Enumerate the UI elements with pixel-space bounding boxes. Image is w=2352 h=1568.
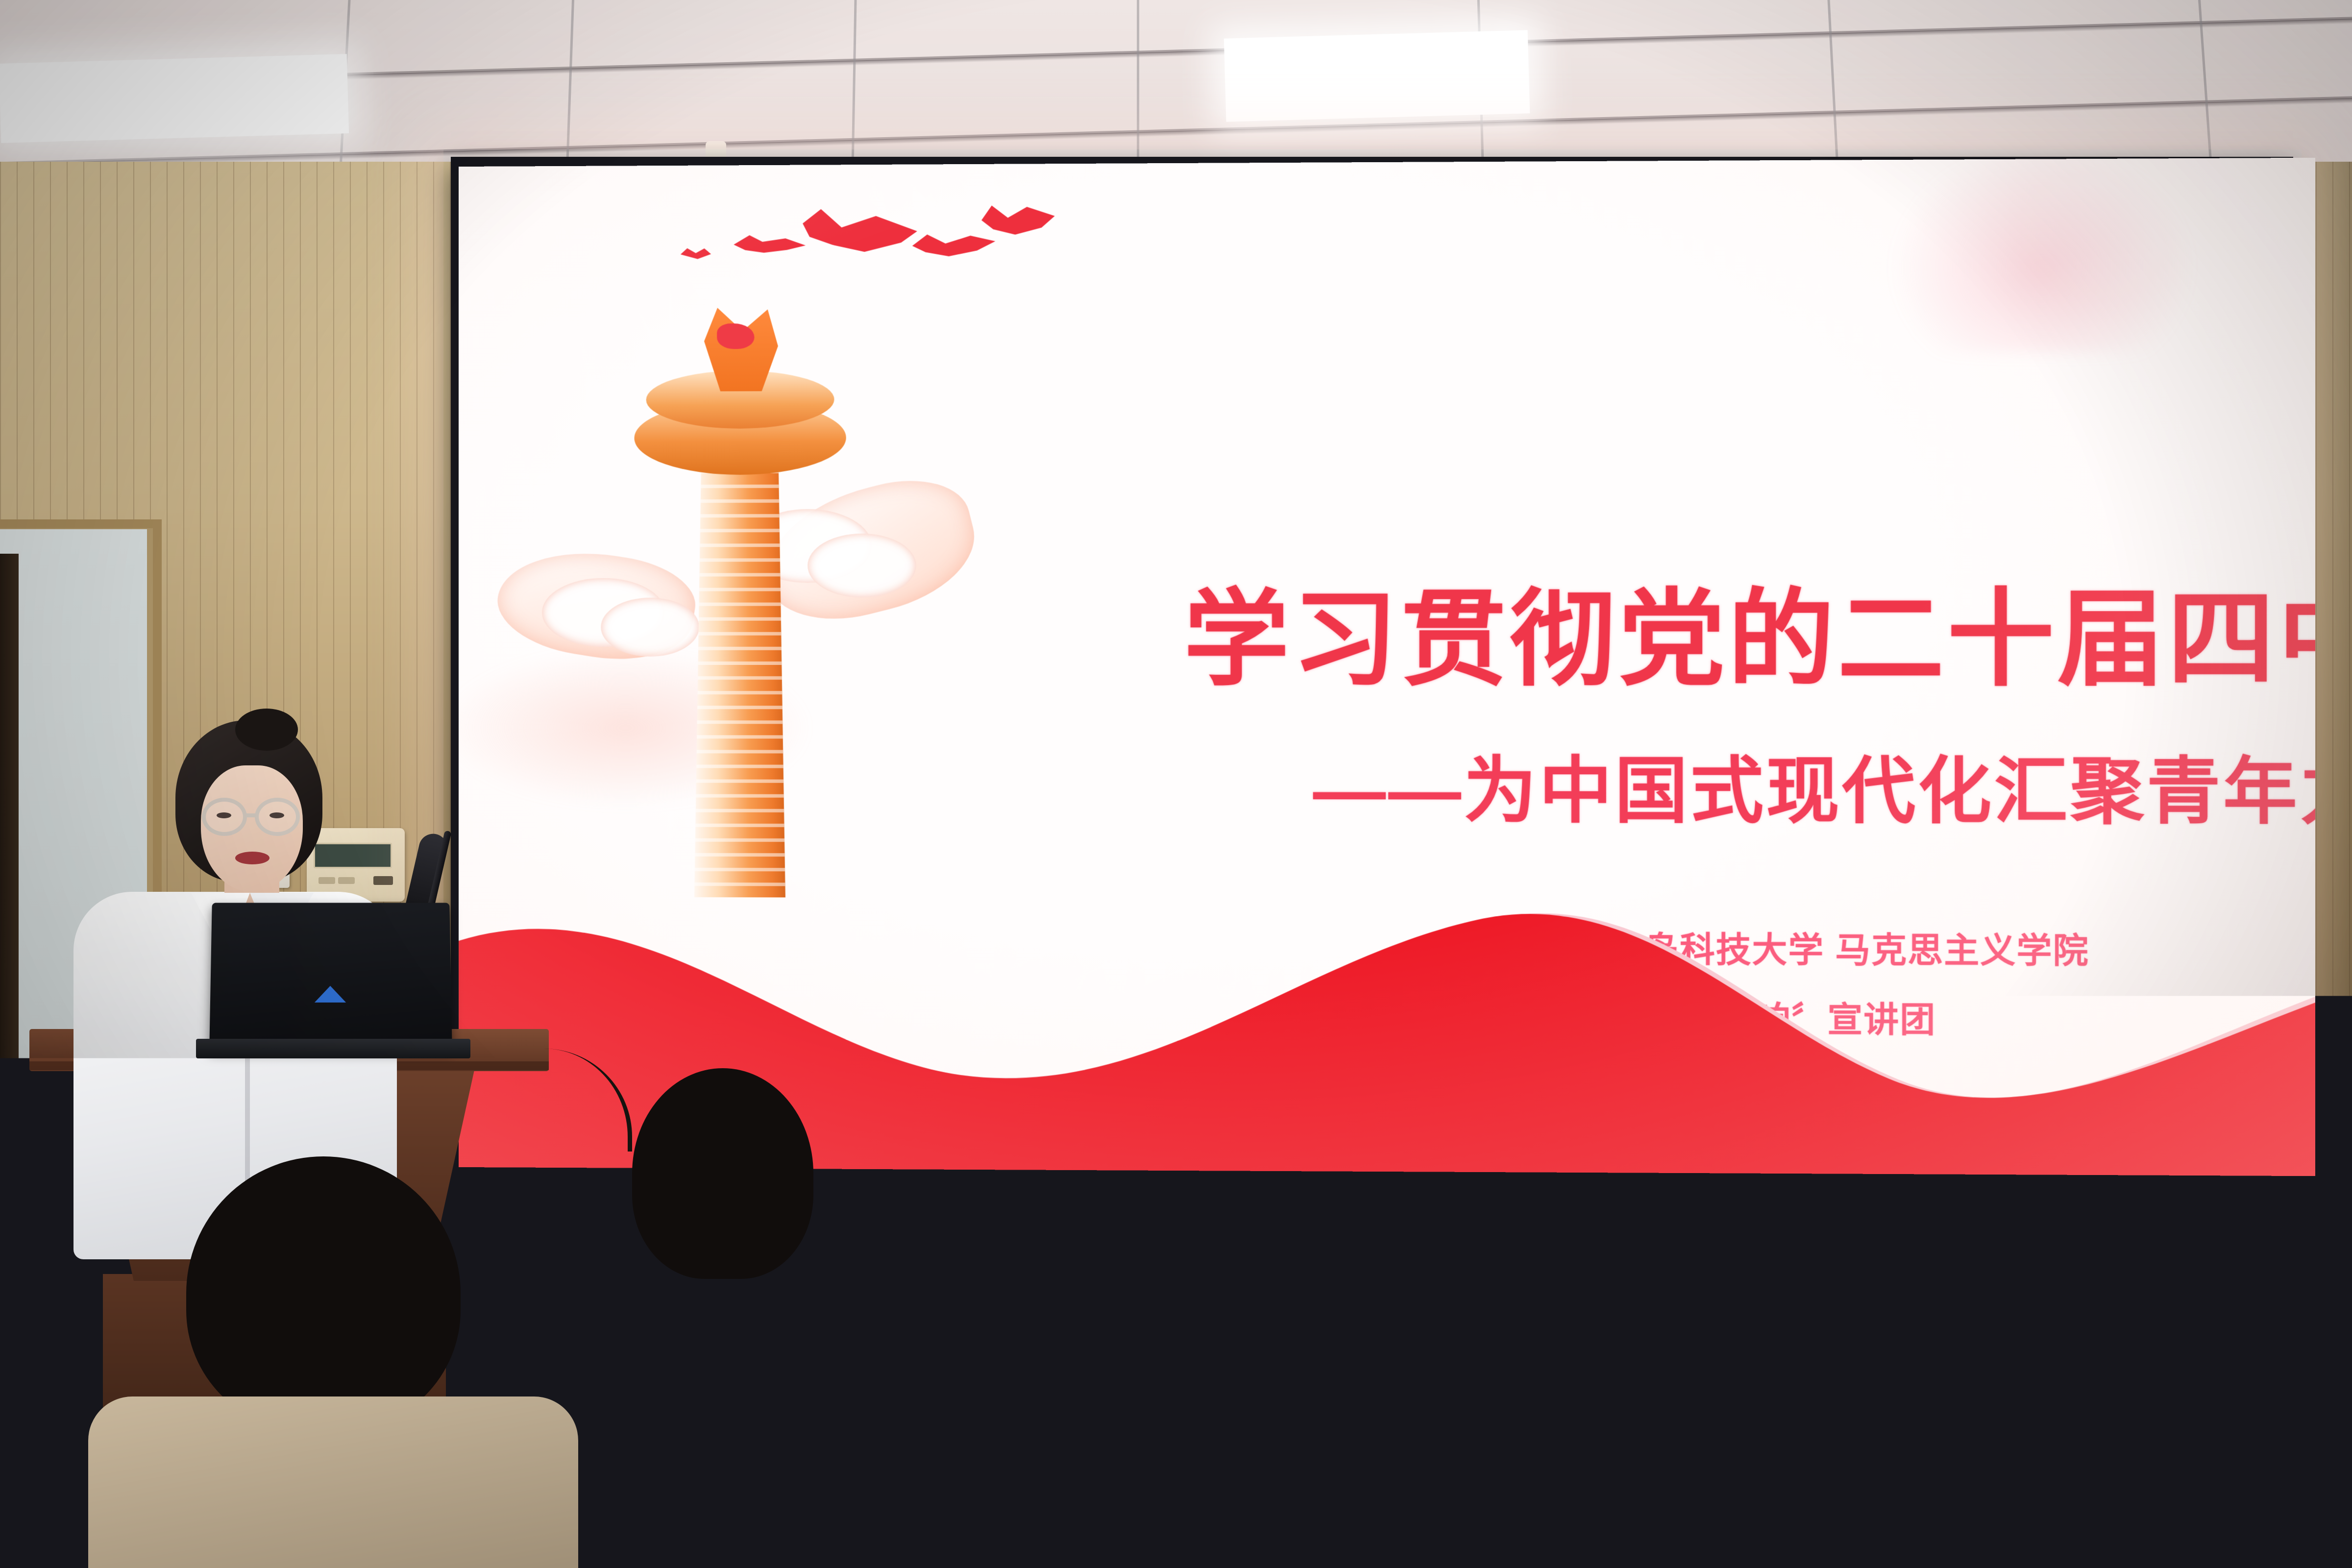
ceiling-panel-light bbox=[0, 54, 349, 143]
laptop[interactable] bbox=[209, 903, 452, 1049]
led-screen-bezel: 学习贯彻党的二十届四中全会精神 ——为中国式现代化汇聚青年力量 青岛科技大学 马… bbox=[451, 157, 2293, 1181]
presentation-slide: 学习贯彻党的二十届四中全会精神 ——为中国式现代化汇聚青年力量 青岛科技大学 马… bbox=[459, 158, 2315, 1176]
presenter-mouth bbox=[235, 852, 269, 864]
bag-buckle bbox=[1926, 1441, 1944, 1469]
ceiling-panel-light bbox=[1224, 30, 1530, 122]
bag-buckle bbox=[2082, 1441, 2101, 1469]
audience-body bbox=[88, 1396, 578, 1568]
door-jamb bbox=[0, 554, 19, 1254]
laptop-base bbox=[196, 1039, 470, 1058]
palm bbox=[2198, 1298, 2291, 1431]
raised-hand bbox=[2185, 1225, 2308, 1431]
led-screen[interactable]: 学习贯彻党的二十届四中全会精神 ——为中国式现代化汇聚青年力量 青岛科技大学 马… bbox=[459, 158, 2315, 1176]
audience-body bbox=[519, 1225, 921, 1568]
slide-vignette bbox=[459, 158, 2315, 1176]
bag-flap bbox=[1906, 1325, 2117, 1369]
laptop-logo-icon bbox=[315, 986, 346, 1003]
glasses-icon bbox=[620, 1127, 674, 1149]
audience-head bbox=[186, 1156, 461, 1431]
handbag bbox=[1886, 1333, 2141, 1529]
glasses-icon bbox=[202, 798, 247, 836]
network-outlet[interactable] bbox=[1378, 1376, 1419, 1421]
glasses-bridge bbox=[246, 813, 258, 817]
plug bbox=[1286, 1398, 1308, 1420]
glasses-icon bbox=[255, 798, 300, 836]
bracelet bbox=[2207, 1420, 2285, 1435]
presenter-hair-bun bbox=[235, 709, 298, 751]
bracelet-bead bbox=[2224, 1421, 2238, 1434]
photo-scene: 学习贯彻党的二十届四中全会精神 ——为中国式现代化汇聚青年力量 青岛科技大学 马… bbox=[0, 0, 2352, 1568]
